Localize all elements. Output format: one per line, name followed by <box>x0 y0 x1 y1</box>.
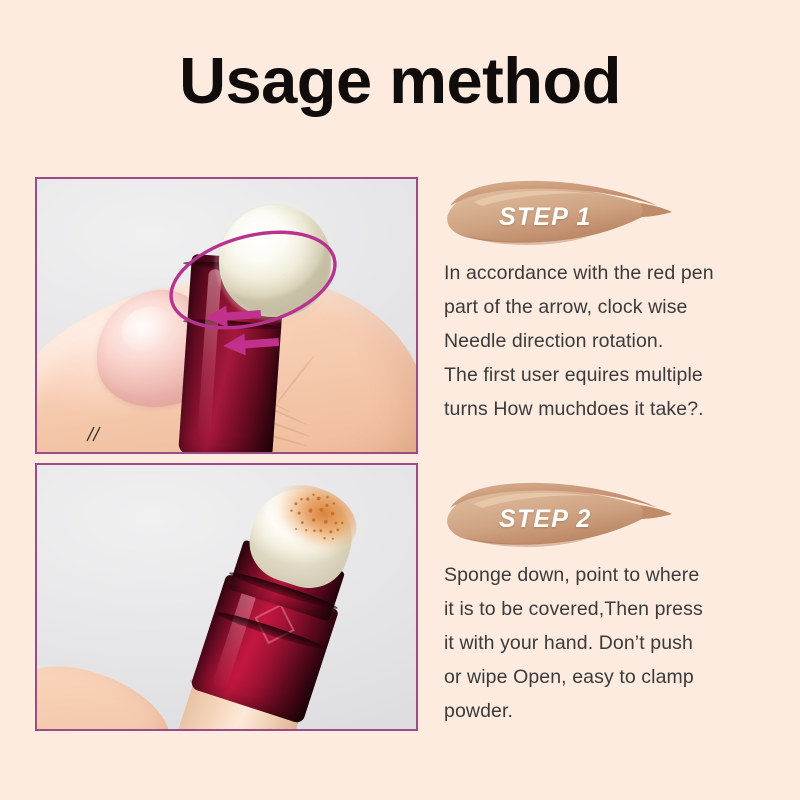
product-photo-step-2 <box>35 463 418 731</box>
rotation-arrow-icon <box>222 329 280 359</box>
step-text-line: powder. <box>444 694 776 728</box>
step-text-line: it is to be covered,Then press <box>444 592 776 626</box>
step-text-line: or wipe Open, easy to clamp <box>444 660 776 694</box>
pen-mark <box>85 425 109 443</box>
step-block-2: STEP 2 Sponge down, point to where it is… <box>444 478 784 728</box>
photo-stage-2 <box>37 465 416 729</box>
step-block-1: STEP 1 In accordance with the red pen pa… <box>444 176 784 426</box>
powder-stick-assembly <box>153 483 375 729</box>
step-description-2: Sponge down, point to where it is to be … <box>444 558 776 728</box>
product-photo-step-1 <box>35 177 418 454</box>
step-label: STEP 2 <box>499 505 591 534</box>
step-text-line: it with your hand. Don’t push <box>444 626 776 660</box>
step-description-1: In accordance with the red pen part of t… <box>444 256 776 426</box>
foundation-swatch-2: STEP 2 <box>444 478 676 552</box>
photo-stage-1 <box>37 179 416 452</box>
rotation-arrow-icon <box>204 301 262 331</box>
usage-method-infographic: Usage method <box>0 0 800 800</box>
step-text-line: Needle direction rotation. <box>444 324 776 358</box>
hand-finger-shape <box>37 648 183 729</box>
step-text-line: The first user equires multiple <box>444 358 776 392</box>
foundation-swatch-1: STEP 1 <box>444 176 676 250</box>
step-text-line: Sponge down, point to where <box>444 558 776 592</box>
page-title: Usage method <box>0 48 800 113</box>
step-label: STEP 1 <box>499 203 591 232</box>
step-text-line: turns How muchdoes it take?. <box>444 392 776 426</box>
step-text-line: part of the arrow, clock wise <box>444 290 776 324</box>
step-text-line: In accordance with the red pen <box>444 256 776 290</box>
